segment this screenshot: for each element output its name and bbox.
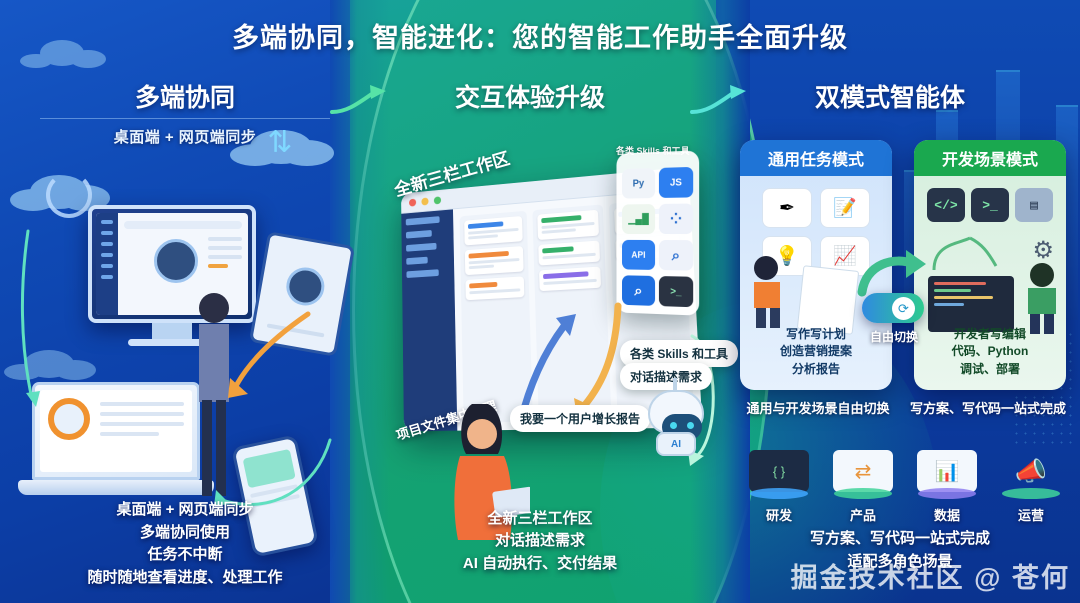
section-heading-dual-mode: 双模式智能体: [740, 78, 1040, 114]
branch-arrows-icon: [928, 232, 1002, 274]
caption-line: 分析报告: [748, 361, 884, 378]
terminal-icon[interactable]: >_: [971, 188, 1009, 222]
caption-line: 随时随地查看进度、处理工作: [30, 567, 340, 590]
window-close-dot[interactable]: [409, 199, 416, 207]
arrow-right-icon-second: [690, 82, 760, 116]
role-product[interactable]: ⇄ 产品: [824, 450, 902, 524]
arrow-right-icon-first: [330, 82, 400, 116]
avatar: [154, 239, 198, 283]
kanban-column[interactable]: [460, 211, 533, 423]
person-writing-illustration: [746, 254, 798, 328]
subtitle-multi-device: 桌面端 + 网页端同步: [40, 118, 330, 147]
gears-icon[interactable]: ⚙: [1032, 236, 1054, 265]
role-disc: [918, 488, 976, 499]
pen-icon[interactable]: ✒: [762, 188, 812, 228]
code-window-icon: { }: [749, 450, 809, 492]
robot-body-ai-label: AI: [656, 432, 696, 456]
caption-line: 任务不中断: [30, 544, 340, 567]
caption-line: 写方案、写代码一站式完成: [730, 528, 1070, 551]
caption-line: 开发者写编辑: [922, 326, 1058, 343]
window-minimize-dot[interactable]: [421, 197, 428, 205]
general-task-mode-card[interactable]: 通用任务模式 ✒ 📝 💡 📈 写作写计划 创造营销提案 分析报告: [740, 140, 892, 390]
python-icon[interactable]: Py: [622, 168, 655, 199]
role-label: 运营: [992, 505, 1070, 524]
page-title: 多端协同，智能进化：您的智能工作助手全面升级: [0, 16, 1080, 55]
avatar: [283, 264, 327, 308]
kanban-card[interactable]: [465, 246, 524, 275]
terminal-icon[interactable]: >_: [659, 276, 693, 307]
caption-line: 桌面端 + 网页端同步: [30, 499, 340, 522]
role-operations[interactable]: 📣 运营: [992, 450, 1070, 524]
user-ask-bubble: 我要一个用户增长报告: [510, 405, 650, 432]
window-maximize-dot[interactable]: [434, 196, 441, 204]
caption-line: 多端协同使用: [30, 522, 340, 545]
person-illustration-left: [186, 288, 242, 500]
document-illustration: [797, 265, 859, 335]
infographic-canvas: ⇅ 多端协同，智能进化：您的智能工作助手全面升级 多端协同 交互体验升级 双模式…: [0, 0, 1080, 603]
left-panel-caption: 桌面端 + 网页端同步 多端协同使用 任务不中断 随时随地查看进度、处理工作: [30, 499, 340, 589]
search-icon[interactable]: ⌕: [659, 240, 693, 271]
caption-line: 创造营销提案: [748, 343, 884, 360]
dev-scenario-mode-card[interactable]: 开发场景模式 </> >_ ▤ ⚙ 开发者写编辑 代码、Python 调试、部署: [914, 140, 1066, 390]
monitor-sidebar: [96, 213, 118, 315]
section-heading-interaction: 交互体验升级: [380, 78, 680, 114]
role-data[interactable]: 📊 数据: [908, 450, 986, 524]
workspace-file-sidebar[interactable]: [401, 209, 457, 431]
caption-line: 代码、Python: [922, 343, 1058, 360]
caption-line: 调试、部署: [922, 361, 1058, 378]
kanban-card[interactable]: [538, 241, 600, 266]
kanban-column[interactable]: [532, 204, 611, 421]
javascript-icon[interactable]: JS: [659, 167, 693, 198]
server-rack-icon[interactable]: ▤: [1015, 188, 1053, 222]
kanban-card[interactable]: [464, 216, 523, 245]
cloud-shape: [24, 350, 74, 378]
mode-switch-label: 自由切换: [854, 328, 934, 345]
refresh-sync-icon[interactable]: ⟳: [892, 297, 915, 320]
role-label: 产品: [824, 505, 902, 524]
bar-chart-icon[interactable]: ▁▄█: [622, 204, 655, 234]
watermark: 掘金技术社区 @ 苍何: [600, 556, 1070, 595]
cloud-shape: [30, 175, 88, 209]
api-icon[interactable]: API: [622, 240, 655, 270]
laptop-keyboard-base: [18, 480, 214, 495]
ai-robot-illustration: AI: [644, 378, 708, 456]
role-disc: [1002, 488, 1060, 499]
kanban-card[interactable]: [537, 210, 599, 240]
caption-line: 对话描述需求: [390, 530, 690, 553]
code-editor-illustration: [928, 276, 1014, 332]
dev-scenario-mode-title: 开发场景模式: [914, 140, 1066, 176]
kanban-card[interactable]: [539, 267, 601, 292]
general-task-mode-title: 通用任务模式: [740, 140, 892, 176]
role-disc: [750, 488, 808, 499]
role-disc: [834, 488, 892, 499]
dev-icon-row: </> >_ ▤: [914, 176, 1066, 224]
flowchart-icon: ⇄: [833, 450, 893, 492]
analytics-icon: 📊: [917, 450, 977, 492]
dev-mode-under-caption: 写方案、写代码一站式完成: [900, 398, 1076, 417]
caption-line: 全新三栏工作区: [390, 508, 690, 531]
magnifier-icon[interactable]: ⌕: [622, 275, 655, 306]
role-label: 研发: [740, 505, 818, 524]
megaphone-icon: 📣: [1001, 450, 1061, 492]
scatter-icon[interactable]: ⁘: [659, 203, 693, 234]
section-heading-multi-device: 多端协同: [40, 78, 330, 114]
code-brackets-icon[interactable]: </>: [927, 188, 965, 222]
developer-illustration: [1014, 262, 1064, 334]
laptop-illustration: [32, 382, 200, 480]
document-edit-icon[interactable]: 📝: [820, 188, 870, 228]
role-label: 数据: [908, 505, 986, 524]
dev-scenario-mode-caption: 开发者写编辑 代码、Python 调试、部署: [922, 326, 1058, 378]
kanban-card[interactable]: [465, 276, 524, 300]
skills-tools-panel[interactable]: Py JS ▁▄█ ⁘ API ⌕ ⌕ >_: [616, 150, 699, 315]
role-rd[interactable]: { } 研发: [740, 450, 818, 524]
general-mode-under-caption: 通用与开发场景自由切换: [730, 398, 906, 417]
